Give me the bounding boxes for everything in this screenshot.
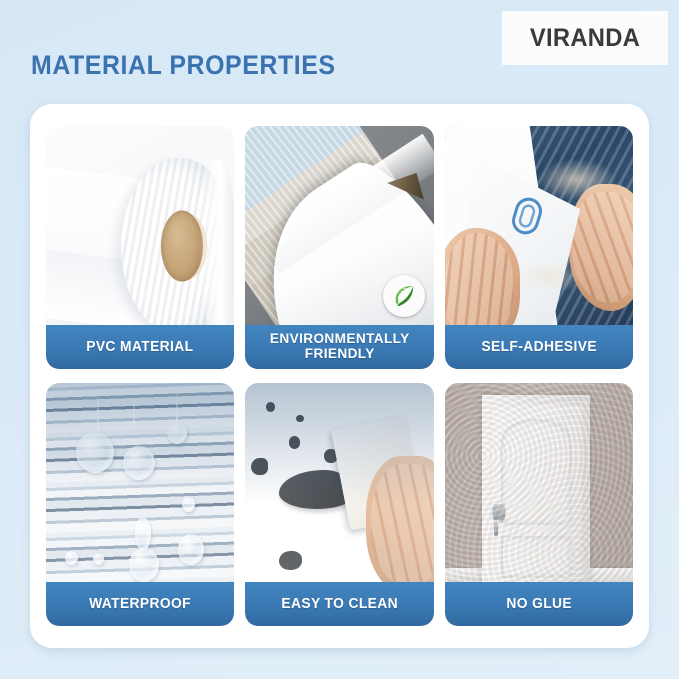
- feature-label-easy-to-clean: EASY TO CLEAN: [245, 582, 433, 626]
- door-panel-bottom-shape: [501, 536, 572, 579]
- water-droplet: [178, 534, 204, 566]
- feature-tile-self-adhesive[interactable]: SELF-ADHESIVE: [445, 126, 633, 369]
- feature-label-line: SELF-ADHESIVE: [481, 340, 597, 355]
- left-hand-shape: [445, 228, 520, 340]
- water-droplet: [65, 551, 78, 566]
- leaf-icon: [390, 282, 418, 310]
- features-card: PVC MATERIAL: [30, 104, 649, 648]
- feature-tile-environmentally-friendly[interactable]: ENVIRONMENTALLY FRIENDLY: [245, 126, 433, 369]
- water-droplet: [76, 432, 114, 473]
- feature-label-line: PVC MATERIAL: [87, 340, 194, 355]
- baseboard-shape: [445, 568, 633, 582]
- stain-spot: [279, 551, 302, 570]
- feature-label-no-glue: NO GLUE: [445, 582, 633, 626]
- stain-spot: [251, 458, 268, 475]
- feature-tile-pvc-material[interactable]: PVC MATERIAL: [46, 126, 234, 369]
- feature-label-line: FRIENDLY: [270, 347, 410, 362]
- stain-spot: [296, 415, 304, 422]
- feature-label-line: EASY TO CLEAN: [281, 597, 398, 612]
- brand-logo: VIRANDA: [502, 11, 668, 65]
- drop-trail: [97, 388, 99, 432]
- page-title: MATERIAL PROPERTIES: [31, 50, 336, 81]
- pvc-roll-edge-shape: [199, 158, 235, 335]
- water-droplet: [93, 553, 104, 565]
- feature-tile-waterproof[interactable]: WATERPROOF: [46, 383, 234, 626]
- right-hand-shape: [569, 184, 633, 310]
- water-droplet: [123, 446, 155, 480]
- feature-tile-easy-to-clean[interactable]: EASY TO CLEAN: [245, 383, 433, 626]
- stain-large: [279, 470, 354, 509]
- leaf-badge: [383, 275, 425, 317]
- cleaning-cloth-shape: [330, 416, 423, 531]
- feature-tile-no-glue[interactable]: NO GLUE: [445, 383, 633, 626]
- cleaning-hand-shape: [366, 456, 434, 597]
- feature-label-line: WATERPROOF: [89, 597, 191, 612]
- water-droplet: [182, 497, 195, 512]
- door-panel-top-shape: [501, 419, 572, 526]
- peeled-backing-shape: [463, 141, 580, 355]
- feature-label-waterproof: WATERPROOF: [46, 582, 234, 626]
- feature-label-line: NO GLUE: [506, 597, 572, 612]
- feature-label-pvc-material: PVC MATERIAL: [46, 325, 234, 369]
- door-handle-shape: [493, 504, 505, 520]
- infographic-root: MATERIAL PROPERTIES VIRANDA PVC MATERIAL: [0, 0, 679, 679]
- water-droplet: [135, 517, 152, 551]
- water-droplet: [167, 422, 188, 444]
- pvc-core-shape: [161, 211, 203, 282]
- paperclip-icon: [504, 192, 550, 241]
- brand-name: VIRANDA: [530, 24, 640, 53]
- stain-spot: [266, 402, 275, 412]
- stain-spot: [324, 449, 337, 464]
- feature-label-environmentally-friendly: ENVIRONMENTALLY FRIENDLY: [245, 325, 433, 369]
- drop-trail: [176, 388, 178, 427]
- door-slab-shape: [490, 404, 583, 582]
- features-grid: PVC MATERIAL: [46, 126, 633, 626]
- water-droplet: [129, 548, 159, 582]
- feature-label-line: ENVIRONMENTALLY: [270, 332, 410, 347]
- door-frame-shape: [482, 395, 589, 582]
- stain-spot: [289, 436, 300, 448]
- feature-label-self-adhesive: SELF-ADHESIVE: [445, 325, 633, 369]
- drop-trail: [133, 393, 135, 427]
